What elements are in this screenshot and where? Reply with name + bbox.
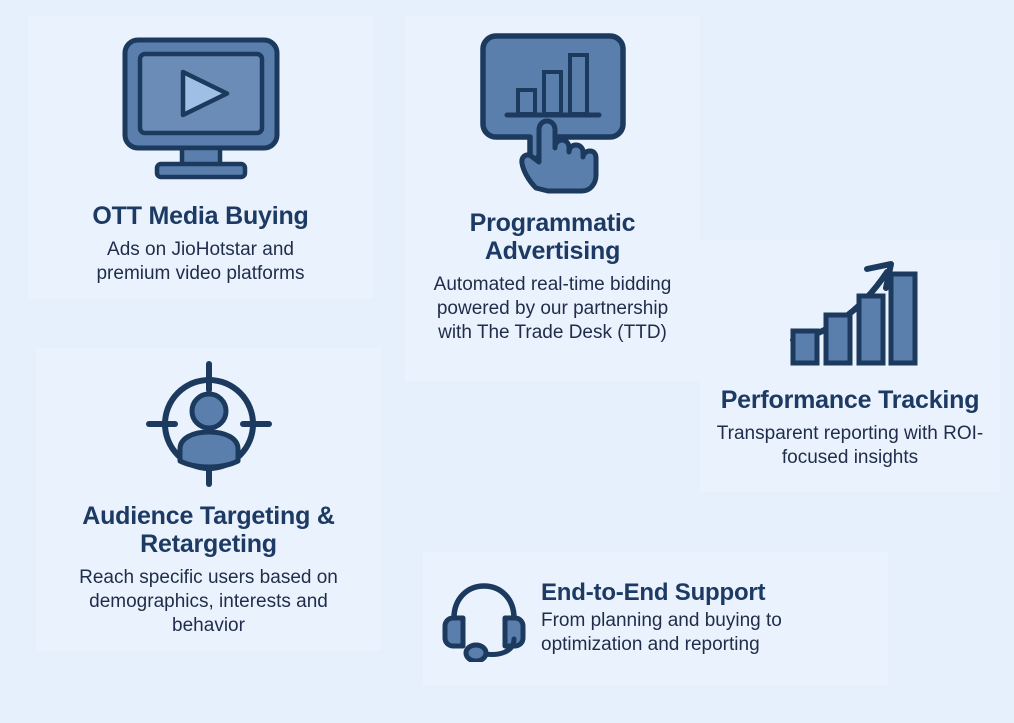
crosshair-person-target-icon bbox=[145, 360, 273, 488]
headset-support-icon bbox=[441, 576, 527, 662]
card-description: Transparent reporting with ROI-focused i… bbox=[716, 422, 984, 470]
growth-bar-chart-arrow-icon bbox=[783, 252, 918, 370]
card-performance-tracking: Performance Tracking Transparent reporti… bbox=[700, 240, 1000, 492]
card-description: Ads on JioHotstar and premium video plat… bbox=[71, 238, 331, 286]
card-title: Audience Targeting & Retargeting bbox=[36, 502, 381, 558]
infographic-canvas: OTT Media Buying Ads on JioHotstar and p… bbox=[0, 0, 1014, 723]
card-title: Performance Tracking bbox=[721, 386, 980, 414]
monitor-play-icon bbox=[115, 34, 287, 182]
support-text-block: End-to-End Support From planning and buy… bbox=[541, 580, 888, 657]
card-title: OTT Media Buying bbox=[92, 202, 308, 230]
card-end-to-end-support: End-to-End Support From planning and buy… bbox=[423, 552, 888, 685]
card-title: End-to-End Support bbox=[541, 580, 765, 607]
card-description: From planning and buying to optimization… bbox=[541, 609, 888, 657]
speech-bubble-bar-chart-click-icon bbox=[478, 30, 628, 195]
card-title: Programmatic Advertising bbox=[405, 209, 700, 265]
card-ott-media-buying: OTT Media Buying Ads on JioHotstar and p… bbox=[28, 16, 373, 298]
card-description: Automated real-time bidding powered by o… bbox=[424, 273, 682, 345]
card-programmatic-advertising: Programmatic Advertising Automated real-… bbox=[405, 16, 700, 382]
card-audience-targeting: Audience Targeting & Retargeting Reach s… bbox=[36, 348, 381, 650]
card-description: Reach specific users based on demographi… bbox=[73, 566, 345, 638]
